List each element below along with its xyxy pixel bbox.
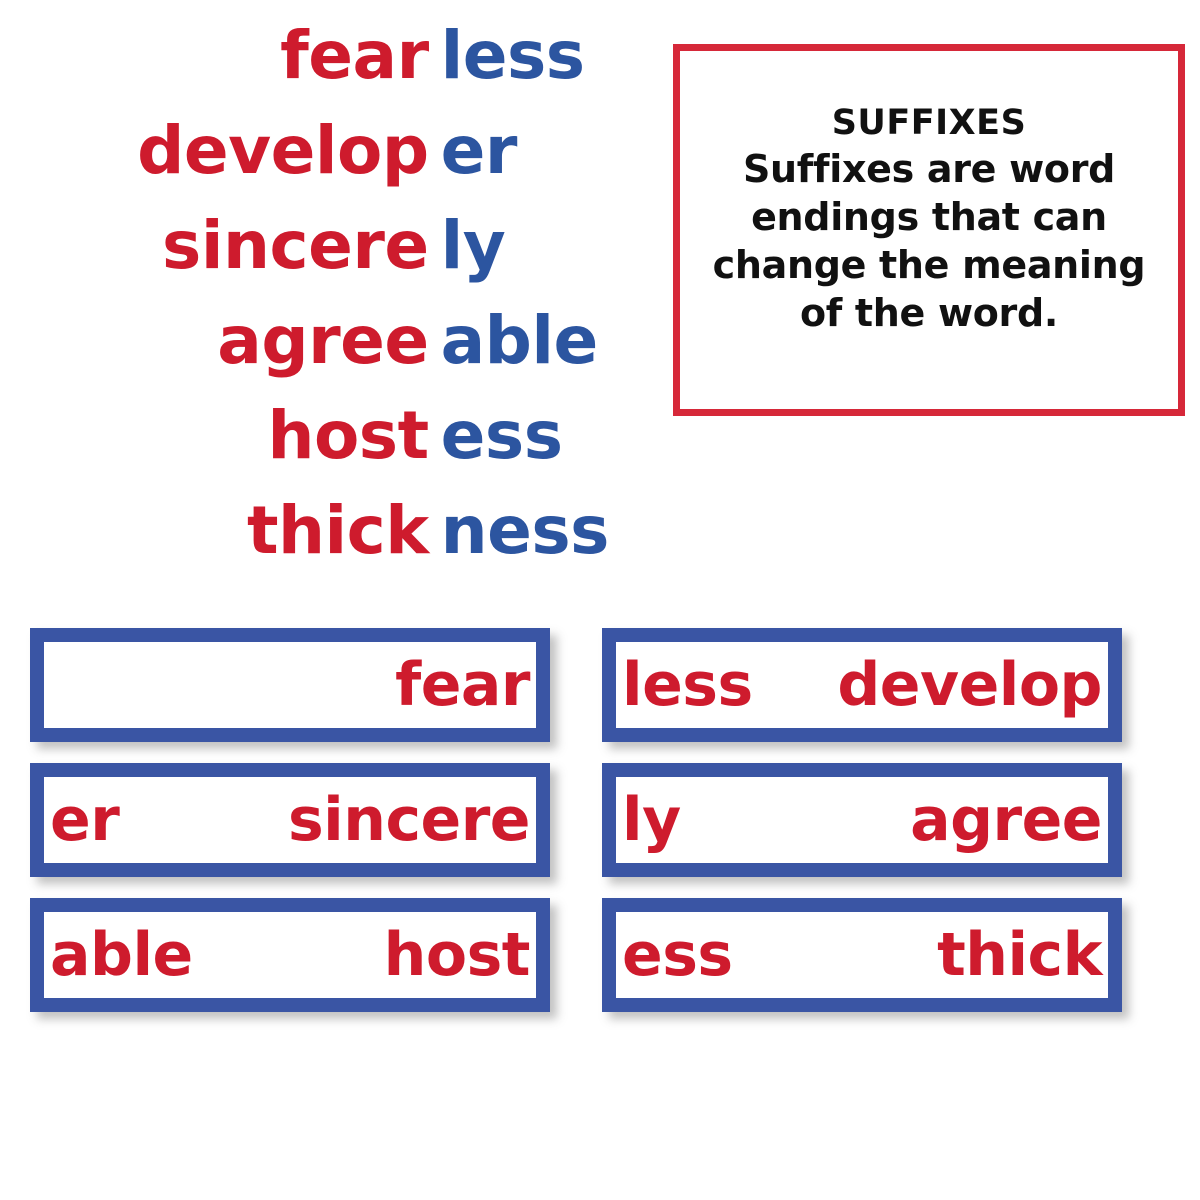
base-word: agree: [0, 293, 429, 388]
suffix-word: able: [429, 293, 640, 388]
word-row: sincere ly: [0, 198, 640, 293]
card-word-right: develop: [837, 655, 1102, 715]
word-card-inner: er sincere: [44, 777, 536, 863]
definition-text-block: SUFFIXES Suffixes are word endings that …: [680, 101, 1178, 337]
word-list: fear less develop er sincere ly agree ab…: [0, 8, 640, 578]
word-row: host ess: [0, 388, 640, 483]
card-word-left: ess: [622, 925, 733, 985]
card-word-right: thick: [937, 925, 1102, 985]
word-card[interactable]: less develop: [602, 628, 1122, 742]
base-word: sincere: [0, 198, 429, 293]
card-word-left: ly: [622, 790, 681, 850]
definition-line-4: of the word.: [690, 289, 1168, 337]
word-card-inner: ly agree: [616, 777, 1108, 863]
base-word: thick: [0, 483, 429, 578]
word-card[interactable]: ly agree: [602, 763, 1122, 877]
suffix-word: er: [429, 103, 640, 198]
word-card-inner: ess thick: [616, 912, 1108, 998]
worksheet-page: fear less develop er sincere ly agree ab…: [0, 0, 1200, 1200]
base-word: fear: [0, 8, 429, 103]
word-card-inner: able host: [44, 912, 536, 998]
suffix-word: ess: [429, 388, 640, 483]
word-row: fear less: [0, 8, 640, 103]
definition-line-1: Suffixes are word: [690, 145, 1168, 193]
card-word-left: er: [50, 790, 119, 850]
word-card[interactable]: ess thick: [602, 898, 1122, 1012]
card-word-right: sincere: [288, 790, 530, 850]
word-row: thick ness: [0, 483, 640, 578]
definition-line-2: endings that can: [690, 193, 1168, 241]
card-strip-grid: fear less develop er sincere ly a: [30, 628, 1170, 1033]
card-word-left: less: [622, 655, 753, 715]
word-card-inner: less develop: [616, 642, 1108, 728]
definition-line-3: change the meaning: [690, 241, 1168, 289]
card-row: able host ess thick: [30, 898, 1170, 1012]
suffix-word: ly: [429, 198, 640, 293]
card-word-right: fear: [395, 655, 530, 715]
word-card-inner: fear: [44, 642, 536, 728]
suffix-word: less: [429, 8, 640, 103]
word-row: develop er: [0, 103, 640, 198]
base-word: host: [0, 388, 429, 483]
definition-title: SUFFIXES: [690, 101, 1168, 145]
suffix-word: ness: [429, 483, 640, 578]
word-card[interactable]: er sincere: [30, 763, 550, 877]
card-word-right: agree: [910, 790, 1102, 850]
word-card[interactable]: able host: [30, 898, 550, 1012]
card-row: er sincere ly agree: [30, 763, 1170, 877]
card-row: fear less develop: [30, 628, 1170, 742]
word-card[interactable]: fear: [30, 628, 550, 742]
word-row: agree able: [0, 293, 640, 388]
base-word: develop: [0, 103, 429, 198]
card-word-left: able: [50, 925, 193, 985]
card-word-right: host: [384, 925, 530, 985]
definition-box: SUFFIXES Suffixes are word endings that …: [673, 44, 1185, 416]
